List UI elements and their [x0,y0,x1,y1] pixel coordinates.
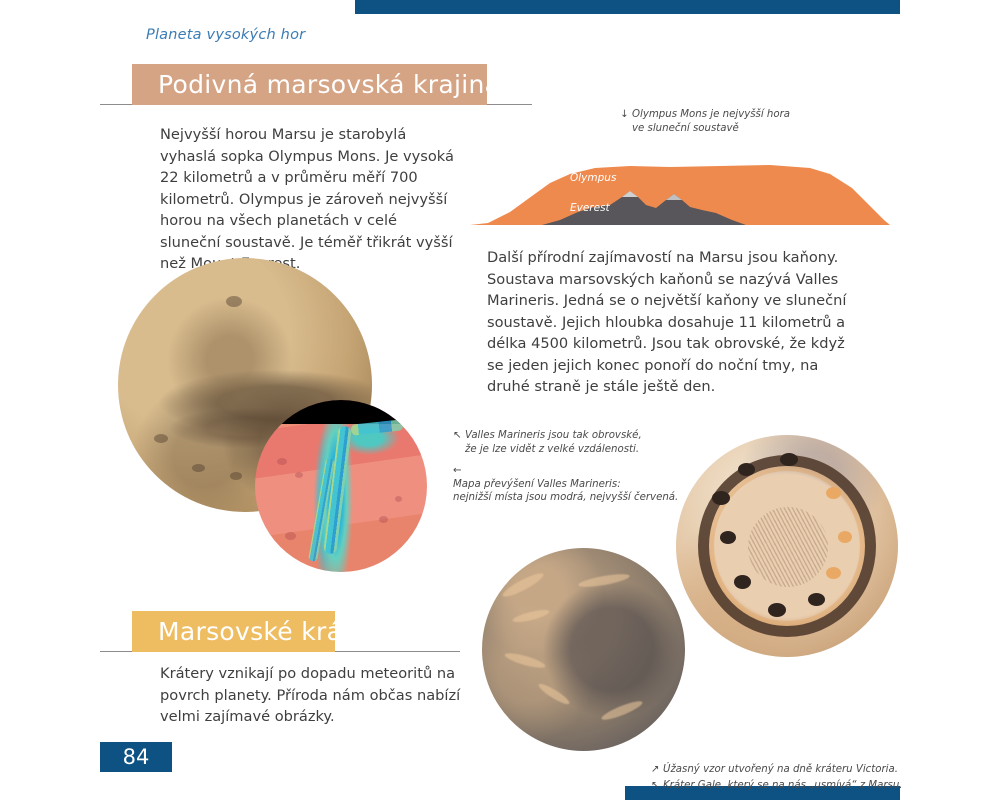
arrow-left-icon: ← [453,464,465,478]
caption-valles-line2: že je lze vidět z velké vzdálenosti. [465,444,639,455]
caption-victoria-crater: ↗Úžasný vzor utvořený na dně kráteru Vic… [651,763,911,777]
caption-gale-crater: ↖Kráter Gale, který se na nás „usmívá“ z… [651,779,921,793]
caption-elevation-map: ←Mapa převýšení Valles Marineris:nejnižš… [453,464,683,505]
caption-olympus: ↓Olympus Mons je nejvyšší horave slunečn… [620,108,850,135]
paragraph-craters: Krátery vznikají po dopadu meteoritů na … [160,663,470,728]
caption-olympus-line1: Olympus Mons je nejvyšší hora [632,109,790,120]
caption-mapa-line2: nejnižší místa jsou modrá, nejvyšší červ… [453,492,678,503]
victoria-crater-image [676,435,898,657]
olympus-profile-diagram: Olympus Everest [470,150,890,225]
page-number: 84 [100,742,172,772]
diagram-label-everest: Everest [570,202,610,214]
section-heading-kratery-label: Marsovské krátery [158,617,394,646]
caption-victoria-text: Úžasný vzor utvořený na dně kráteru Vict… [663,763,898,777]
section-heading-krajina: Podivná marsovská krajina [132,64,487,105]
running-head: Planeta vysokých hor [146,27,305,43]
section-heading-kratery: Marsovské krátery [132,611,335,652]
arrow-up-left-icon: ↖ [453,429,465,443]
paragraph-canyons: Další přírodní zajímavostí na Marsu jsou… [487,247,862,398]
arrow-down-icon: ↓ [620,108,632,122]
arrow-up-left-icon-2: ↖ [651,779,663,793]
top-blue-bar [355,0,900,14]
gale-crater-image [482,548,685,751]
caption-mapa-line1: Mapa převýšení Valles Marineris: [453,479,621,490]
caption-valles-marineris: ↖Valles Marineris jsou tak obrovské,že j… [453,429,668,456]
arrow-up-right-icon: ↗ [651,763,663,777]
caption-valles-line1: Valles Marineris jsou tak obrovské, [465,430,642,441]
section-heading-krajina-label: Podivná marsovská krajina [158,70,500,99]
paragraph-olympus: Nejvyšší horou Marsu je starobylá vyhasl… [160,124,460,275]
caption-olympus-line2: ve sluneční soustavě [632,123,739,134]
valles-marineris-elevation-map-image [255,400,427,572]
caption-gale-text: Kráter Gale, který se na nás „usmívá“ z … [663,779,903,793]
diagram-label-olympus: Olympus [570,172,616,184]
